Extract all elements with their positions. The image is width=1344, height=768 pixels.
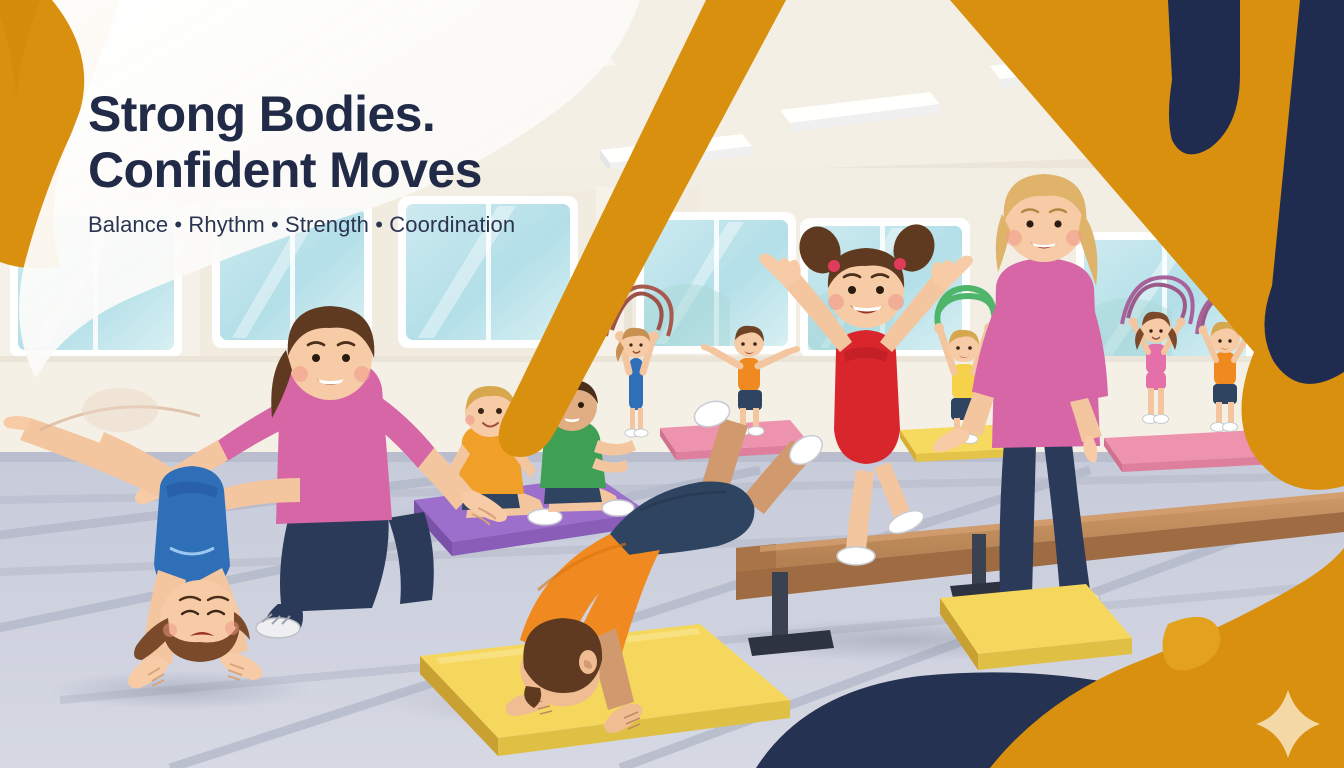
gymnastics-promo-banner: Strong Bodies. Confident Moves Balance •… [0, 0, 1344, 768]
illustration-scene [0, 0, 1344, 768]
